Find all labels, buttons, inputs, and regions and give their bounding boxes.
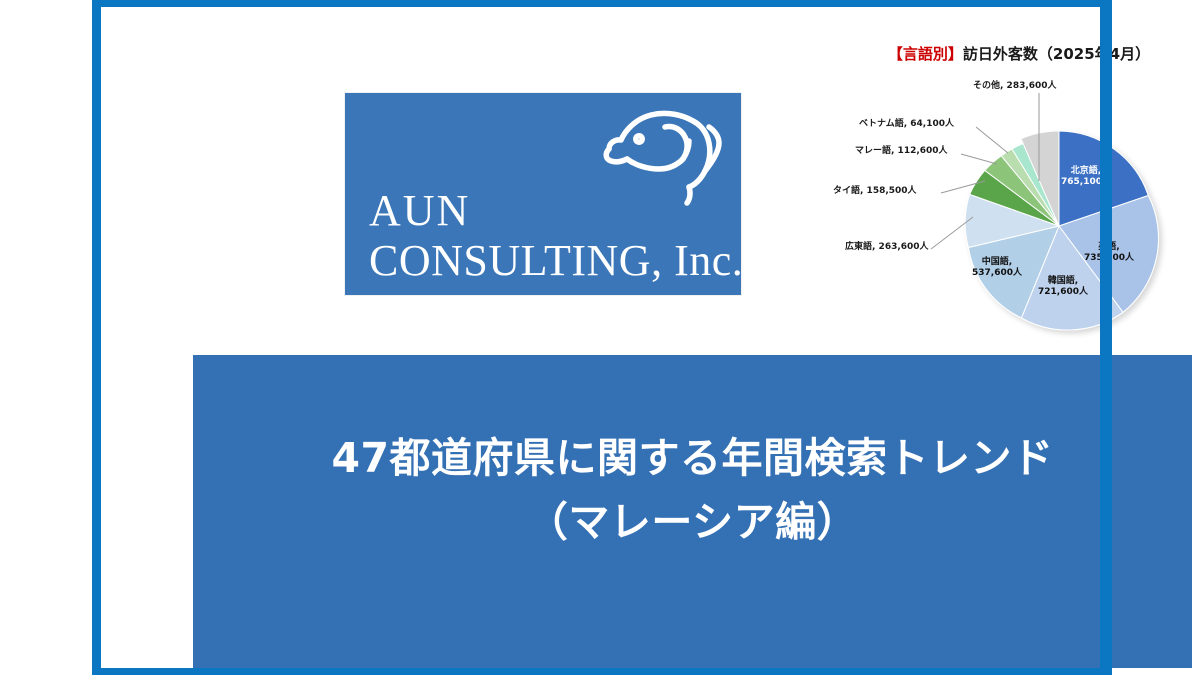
pie-label-other: その他, 283,600人 (973, 81, 1057, 92)
pie-label-chinese-value: 537,600人 (972, 268, 1022, 278)
frame-border-top (92, 0, 1112, 7)
logo-wordmark: AUN CONSULTING, Inc. (369, 189, 743, 283)
frame-border-left (92, 0, 101, 675)
language-breakdown-chart: 【言語別】訪日外客数（2025年4月） (789, 31, 1200, 341)
pie-label-cantonese: 広東語, 263,600人 (845, 242, 929, 253)
aun-consulting-logo: AUN CONSULTING, Inc. (345, 93, 741, 295)
pie-label-malay: マレー語, 112,600人 (855, 146, 948, 157)
pie-label-chinese-name: 中国語, (982, 257, 1012, 267)
frame-border-right (1100, 0, 1112, 675)
logo-line-1: AUN (369, 189, 743, 233)
title-panel: 47都道府県に関する年間検索トレンド （マレーシア編） (193, 355, 1192, 668)
leader-malay (961, 154, 997, 164)
page-title: 47都道府県に関する年間検索トレンド （マレーシア編） (193, 427, 1192, 554)
pie-label-chinese: 中国語, 537,600人 (972, 257, 1022, 280)
page-title-line-2: （マレーシア編） (193, 491, 1192, 555)
pie-label-korean-value: 721,600人 (1038, 287, 1088, 297)
pie-label-korean: 韓国語, 721,600人 (1038, 276, 1088, 299)
slide-canvas: AUN CONSULTING, Inc. 【言語別】訪日外客数（2025年4月） (92, 0, 1112, 675)
pie-label-vietnamese: ベトナム語, 64,100人 (859, 119, 954, 130)
pie-label-beijing-name: 北京語, (1071, 166, 1101, 176)
pie-label-thai: タイ語, 158,500人 (833, 186, 917, 197)
pie-wrap: その他, 283,600人 ベトナム語, 64,100人 マレー語, 112,6… (789, 31, 1200, 341)
pie-label-korean-name: 韓国語, (1048, 276, 1078, 286)
logo-line-2: CONSULTING, Inc. (369, 239, 743, 283)
frame-border-bottom (92, 668, 1112, 675)
pie-slices (965, 131, 1158, 330)
top-white-band: AUN CONSULTING, Inc. 【言語別】訪日外客数（2025年4月） (193, 7, 1192, 355)
page-title-line-1: 47都道府県に関する年間検索トレンド (331, 434, 1053, 482)
leader-vietnamese (976, 127, 1008, 153)
